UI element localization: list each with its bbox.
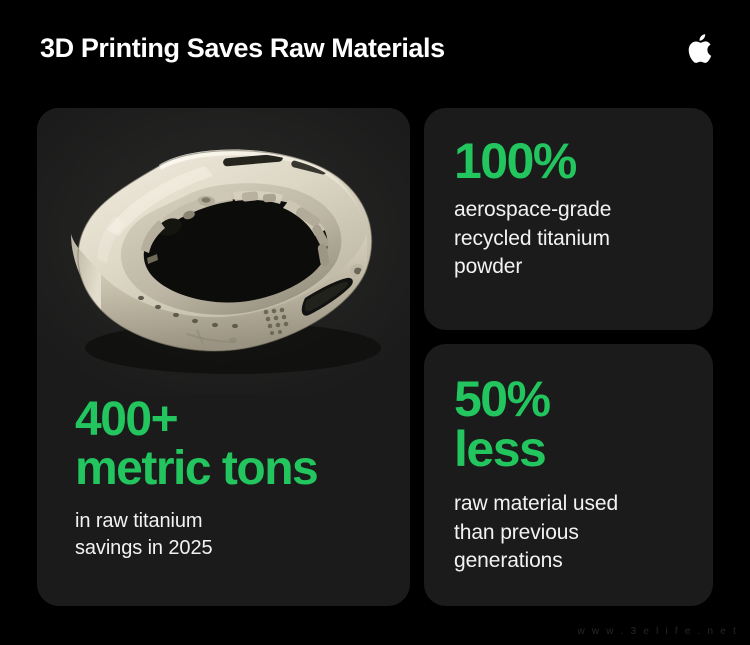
site-watermark: w w w . 3 e l i f e . n e t [577,626,738,637]
hero-stat-description: in raw titanium savings in 2025 [75,508,410,562]
material-reduction-stat-line-1: 50% [454,374,687,424]
recycled-titanium-description-line-2: recycled titanium [454,225,687,254]
hero-description-line-2: savings in 2025 [75,535,410,562]
hero-description-line-1: in raw titanium [75,508,410,535]
apple-logo-icon [688,34,714,64]
infographic-root: 3D Printing Saves Raw Materials [0,0,750,645]
recycled-titanium-description-line-3: powder [454,253,687,282]
card-grid: 400+ metric tons in raw titanium savings… [37,108,713,606]
header: 3D Printing Saves Raw Materials [0,0,750,98]
material-reduction-stat-value: 50% less [454,374,687,474]
page-title: 3D Printing Saves Raw Materials [40,34,445,64]
recycled-titanium-description: aerospace-grade recycled titanium powder [454,196,687,282]
material-reduction-description-line-1: raw material used [454,490,687,519]
hero-stat-line-1: 400+ [75,396,410,445]
stat-card-material-reduction: 50% less raw material used than previous… [424,344,713,606]
hero-stat-value: 400+ metric tons [75,396,410,494]
hero-card-text: 400+ metric tons in raw titanium savings… [37,396,410,562]
material-reduction-stat-line-2: less [454,424,687,474]
material-reduction-description: raw material used than previous generati… [454,490,687,576]
recycled-titanium-stat-line-1: 100% [454,136,687,186]
titanium-case-image [37,108,410,394]
recycled-titanium-stat-value: 100% [454,136,687,186]
recycled-titanium-description-line-1: aerospace-grade [454,196,687,225]
stat-card-recycled-titanium: 100% aerospace-grade recycled titanium p… [424,108,713,330]
material-reduction-description-line-3: generations [454,547,687,576]
material-reduction-description-line-2: than previous [454,519,687,548]
hero-stat-line-2: metric tons [75,445,410,494]
hero-card: 400+ metric tons in raw titanium savings… [37,108,410,606]
